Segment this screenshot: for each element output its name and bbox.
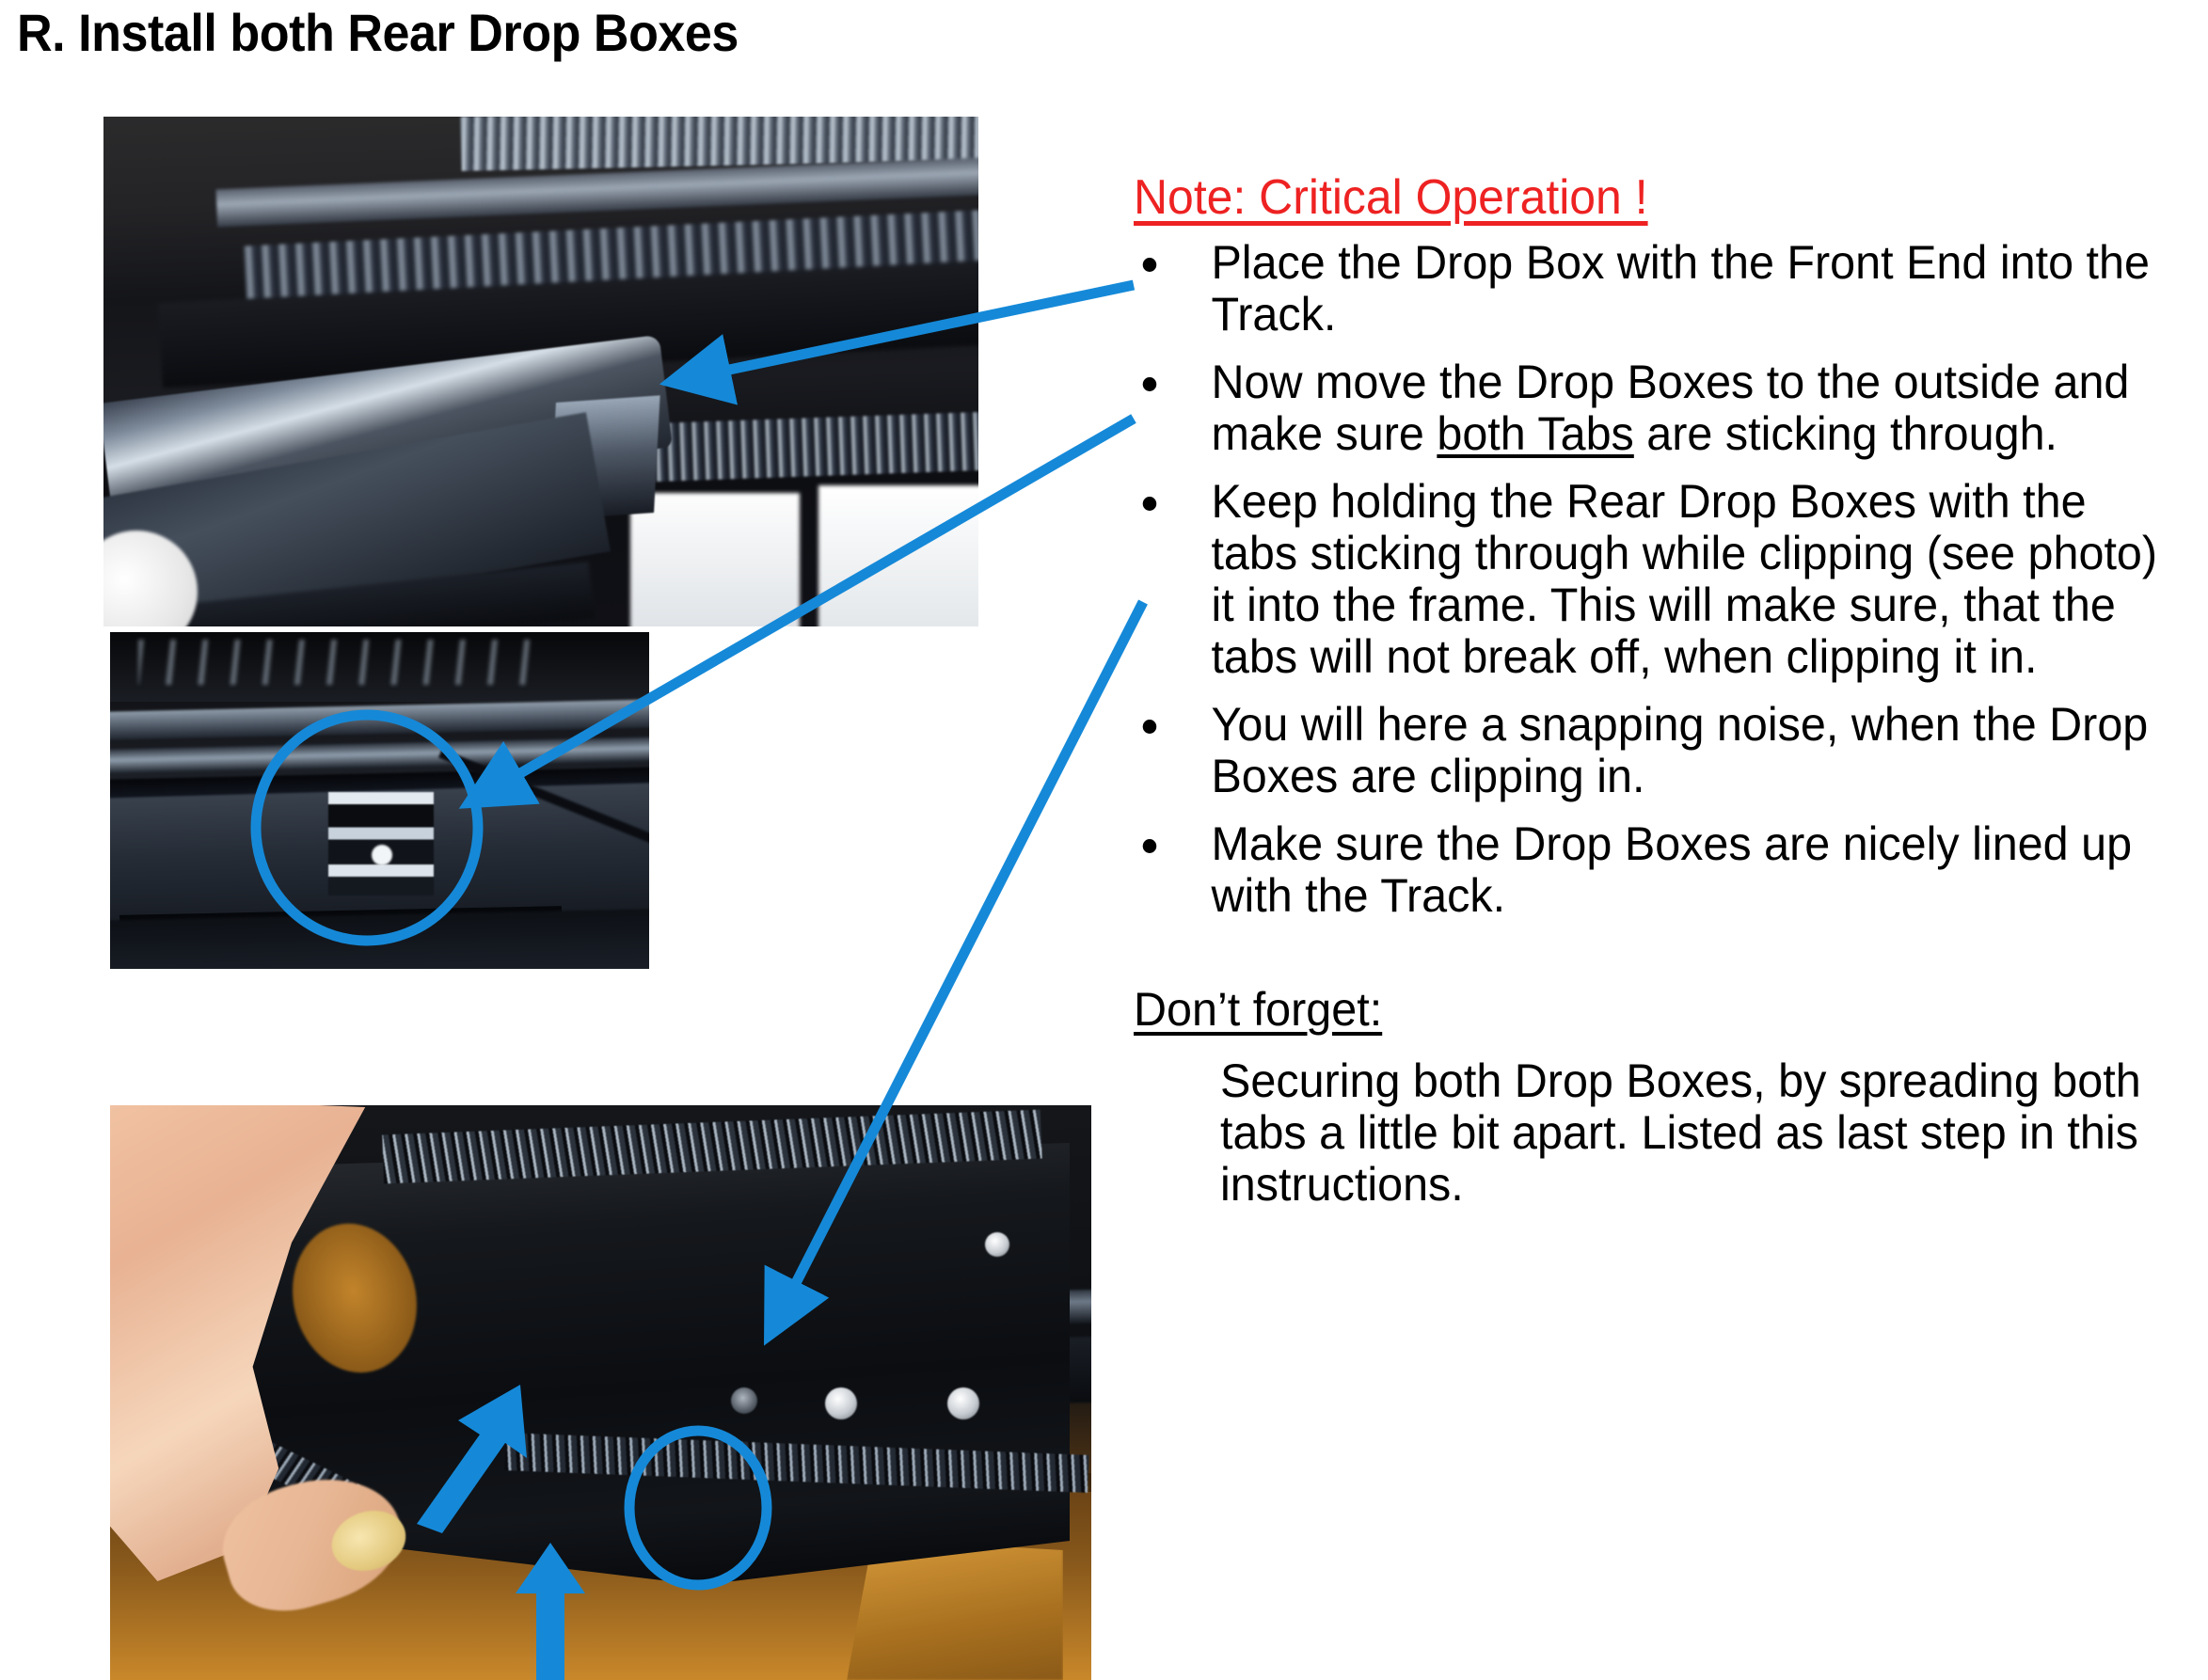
bullet-text: Make sure the Drop Boxes are nicely line…: [1211, 817, 2132, 922]
photo-hand-holding-trim-content: [110, 1105, 1091, 1680]
bullet-lined-up: Make sure the Drop Boxes are nicely line…: [1134, 818, 2160, 922]
bullet-dot-icon: [1143, 497, 1157, 511]
photo-track-front-end-content: [103, 117, 978, 626]
photo-tab-sticking-through-content: [110, 632, 649, 969]
bullet-snapping-noise: You will here a snapping noise, when the…: [1134, 699, 2160, 802]
page-title: R. Install both Rear Drop Boxes: [17, 2, 739, 63]
photo-track-front-end: [103, 117, 978, 626]
bullet-dot-icon: [1143, 377, 1157, 391]
bullet-place-drop-box: Place the Drop Box with the Front End in…: [1134, 237, 2160, 341]
instruction-text-column: Note: Critical Operation ! Place the Dro…: [1134, 171, 2192, 1211]
bullet-text: You will here a snapping noise, when the…: [1211, 698, 2148, 802]
photo-hand-holding-trim: [110, 1105, 1091, 1680]
dont-forget-body: Securing both Drop Boxes, by spreading b…: [1220, 1055, 2163, 1211]
bullet-text-after: are sticking through.: [1634, 407, 2057, 460]
bullet-move-to-outside: Now move the Drop Boxes to the outside a…: [1134, 357, 2160, 460]
bullet-dot-icon: [1143, 258, 1157, 272]
bullet-keep-holding: Keep holding the Rear Drop Boxes with th…: [1134, 476, 2160, 683]
bullet-text: Keep holding the Rear Drop Boxes with th…: [1211, 475, 2157, 683]
dont-forget-section: Don’t forget: Securing both Drop Boxes, …: [1134, 982, 2192, 1211]
note-critical-operation-heading: Note: Critical Operation !: [1134, 171, 2150, 224]
dont-forget-heading: Don’t forget:: [1134, 982, 1382, 1037]
photo-tab-sticking-through: [110, 632, 649, 969]
instruction-bullet-list: Place the Drop Box with the Front End in…: [1134, 237, 2192, 922]
bullet-text-emphasis: both Tabs: [1437, 407, 1633, 460]
bullet-dot-icon: [1143, 720, 1157, 734]
bullet-text: Place the Drop Box with the Front End in…: [1211, 236, 2150, 341]
bullet-dot-icon: [1143, 839, 1157, 853]
